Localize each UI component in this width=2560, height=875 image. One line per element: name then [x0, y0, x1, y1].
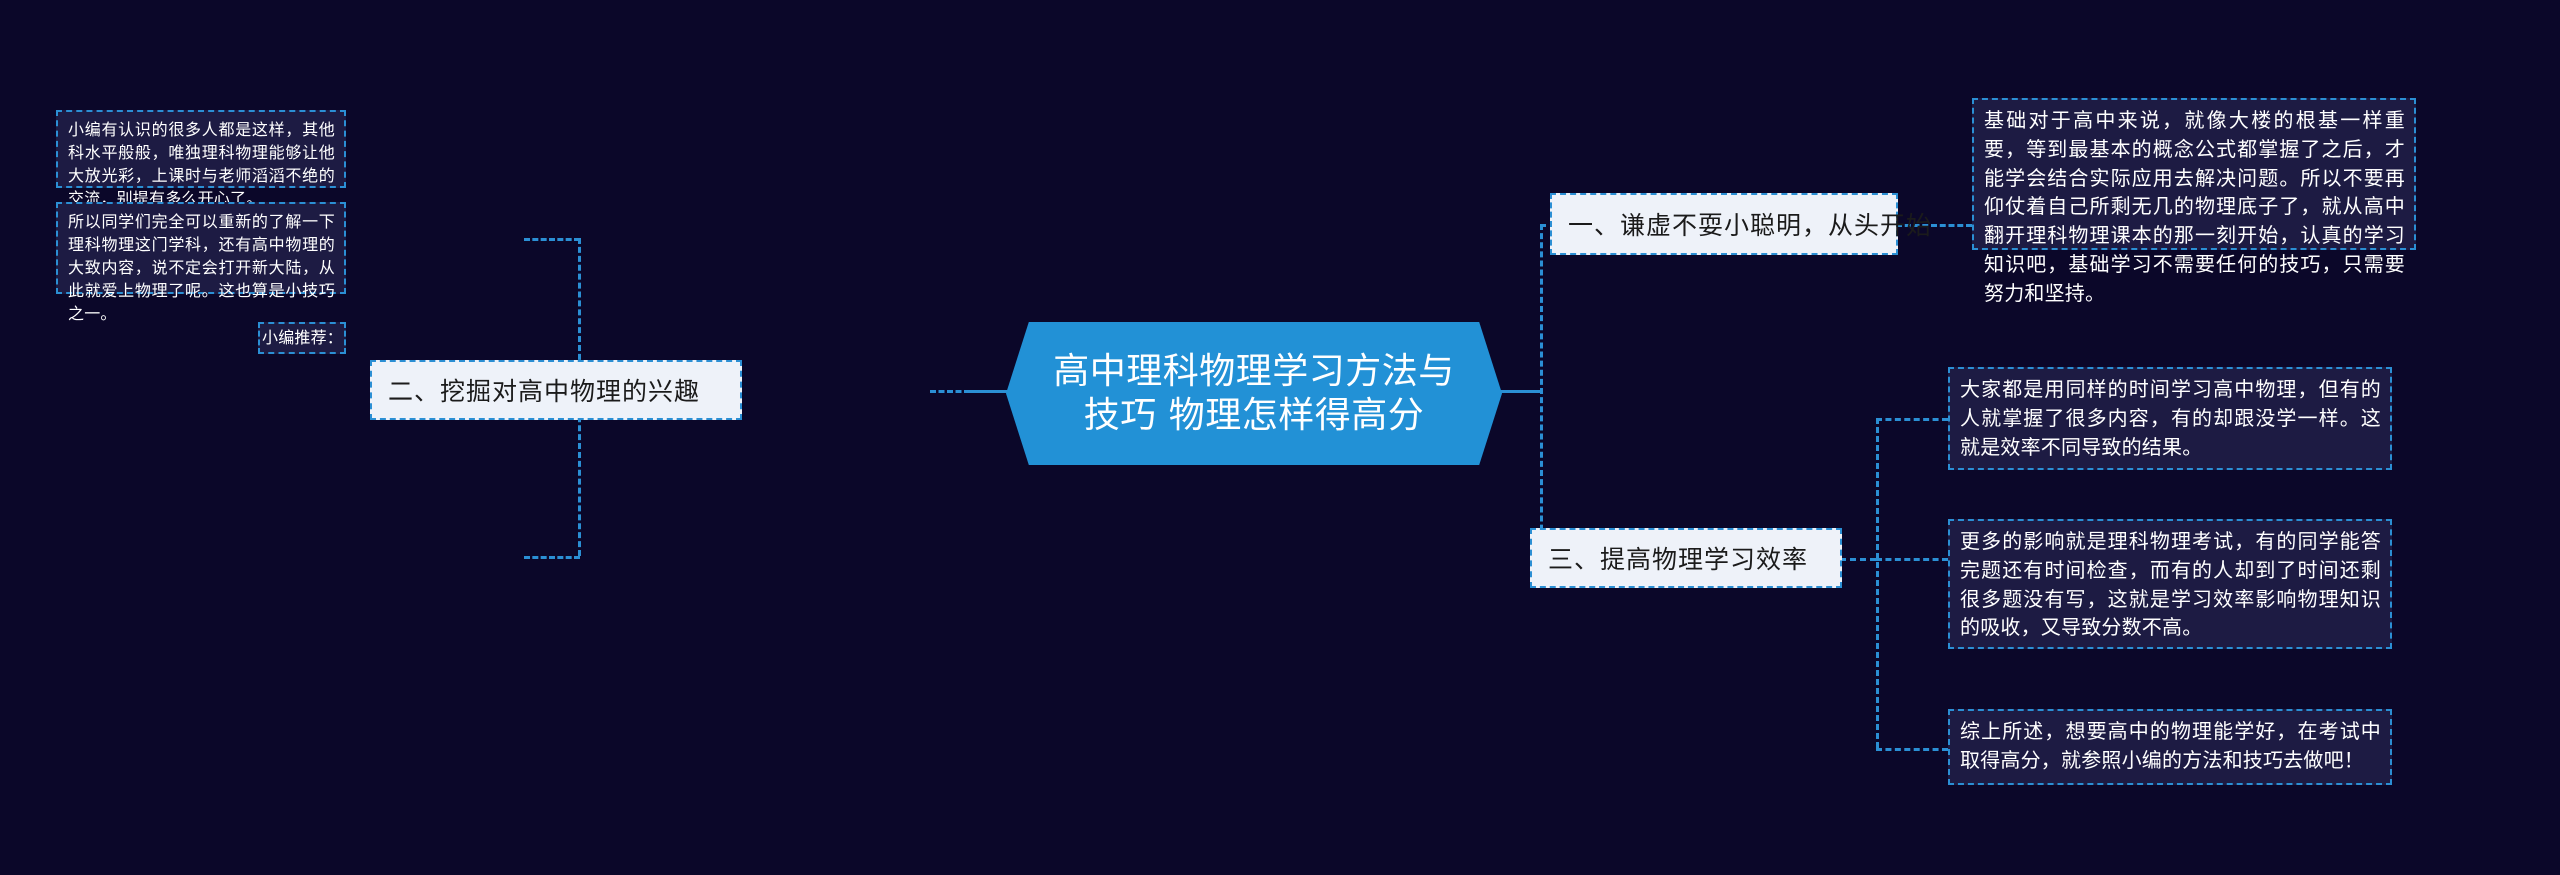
connector-three-leaf-a [1876, 418, 1948, 421]
connector-center-right-stub [1498, 390, 1540, 393]
connector-right-three-spine [1876, 418, 1879, 748]
center-topic-line-2: 技巧 物理怎样得高分 [1053, 394, 1455, 438]
branch-node-two-label: 二、挖掘对高中物理的兴趣 [388, 372, 700, 408]
leaf-one-detail[interactable]: 基础对于高中来说，就像大楼的根基一样重要，等到最基本的概念公式都掌握了之后，才能… [1972, 98, 2416, 250]
branch-node-one-label: 一、谦虚不耍小聪明，从头开始 [1568, 206, 1932, 242]
branch-node-three[interactable]: 三、提高物理学习效率 [1530, 528, 1842, 588]
branch-node-one[interactable]: 一、谦虚不耍小聪明，从头开始 [1550, 193, 1898, 255]
center-topic-node[interactable]: 高中理科物理学习方法与 技巧 物理怎样得高分 [1006, 322, 1502, 465]
connector-three-leaf-b [1876, 558, 1948, 561]
connector-three-leaf-c [1876, 748, 1948, 751]
branch-node-three-label: 三、提高物理学习效率 [1548, 540, 1808, 576]
connector-two-leaf-a [524, 238, 580, 241]
leaf-three-detail-b[interactable]: 更多的影响就是理科物理考试，有的同学能答完题还有时间检查，而有的人却到了时间还剩… [1948, 519, 2392, 649]
connector-left-branch-two [930, 390, 970, 393]
leaf-two-detail-b[interactable]: 所以同学们完全可以重新的了解一下理科物理这门学科，还有高中物理的大致内容，说不定… [56, 202, 346, 294]
leaf-three-conclusion[interactable]: 综上所述，想要高中的物理能学好，在考试中取得高分，就参照小编的方法和技巧去做吧！ [1948, 709, 2392, 785]
branch-node-two[interactable]: 二、挖掘对高中物理的兴趣 [370, 360, 742, 420]
connector-two-leaf-c [524, 556, 580, 559]
leaf-three-detail-a[interactable]: 大家都是用同样的时间学习高中物理，但有的人就掌握了很多内容，有的却跟没学一样。这… [1948, 367, 2392, 470]
center-topic-line-1: 高中理科物理学习方法与 [1053, 350, 1455, 394]
leaf-two-recommend[interactable]: 小编推荐： [258, 322, 346, 354]
connector-center-left-stub [966, 390, 1008, 393]
connector-right-spine [1540, 224, 1543, 558]
leaf-two-detail-a[interactable]: 小编有认识的很多人都是这样，其他科水平般般，唯独理科物理能够让他大放光彩，上课时… [56, 110, 346, 188]
mindmap-canvas: 高中理科物理学习方法与 技巧 物理怎样得高分 一、谦虚不耍小聪明，从头开始 三、… [0, 0, 2560, 875]
connector-branch-three-stub [1840, 558, 1876, 561]
